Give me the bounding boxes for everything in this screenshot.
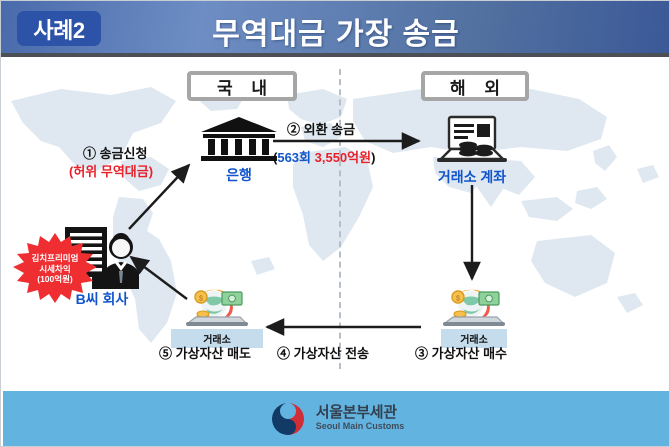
exchange-overseas-icon: $ <box>441 287 507 329</box>
footer-bar: 서울본부세관 Seoul Main Customs <box>3 391 669 446</box>
step-1-label: ① 송금신청 <box>83 143 147 162</box>
amount-value: 3,550억원 <box>315 150 371 165</box>
diagram-canvas: 국 내 해 외 은행 <box>1 61 670 387</box>
domestic-overseas-divider <box>339 69 341 369</box>
burst-line-3: (100억원) <box>37 274 72 285</box>
exchange-account-label: 거래소 계좌 <box>419 167 525 187</box>
step-5-label: ⑤ 가상자산 매도 <box>159 343 251 362</box>
bank-icon <box>197 115 281 163</box>
svg-text:$: $ <box>199 296 203 303</box>
burst-line-1: 김치프리미엄 <box>32 253 79 264</box>
step-3-label: ③ 가상자산 매수 <box>415 343 507 362</box>
footer-org-en: Seoul Main Customs <box>316 422 405 432</box>
step-2-label: ② 외환 송금 <box>287 119 355 138</box>
burst-line-2: 시세차익 <box>39 264 70 275</box>
region-label-domestic: 국 내 <box>187 71 297 101</box>
amount-count: 563회 <box>277 150 311 165</box>
amount-close-paren: ) <box>371 150 375 165</box>
infographic-page: 사례2 무역대금 가장 송금 <box>0 0 670 447</box>
exchange-domestic-icon: $ <box>184 287 250 329</box>
region-label-overseas: 해 외 <box>421 71 529 101</box>
page-title: 무역대금 가장 송금 <box>1 9 670 53</box>
svg-text:$: $ <box>456 296 460 303</box>
taegeuk-logo-icon <box>268 400 308 438</box>
step-4-label: ④ 가상자산 전송 <box>277 343 369 362</box>
step-2-amount: (563회 3,550억원) <box>273 147 375 166</box>
exchange-account-laptop-icon <box>433 115 511 167</box>
bank-label: 은행 <box>197 165 281 185</box>
kimchi-premium-text: 김치프리미엄 시세차익 (100억원) <box>13 241 97 297</box>
footer-org-kr: 서울본부세관 <box>316 405 405 422</box>
header-bar: 사례2 무역대금 가장 송금 <box>1 1 670 57</box>
step-1-sublabel: (허위 무역대금) <box>69 161 153 180</box>
footer-org-text: 서울본부세관 Seoul Main Customs <box>316 405 405 431</box>
